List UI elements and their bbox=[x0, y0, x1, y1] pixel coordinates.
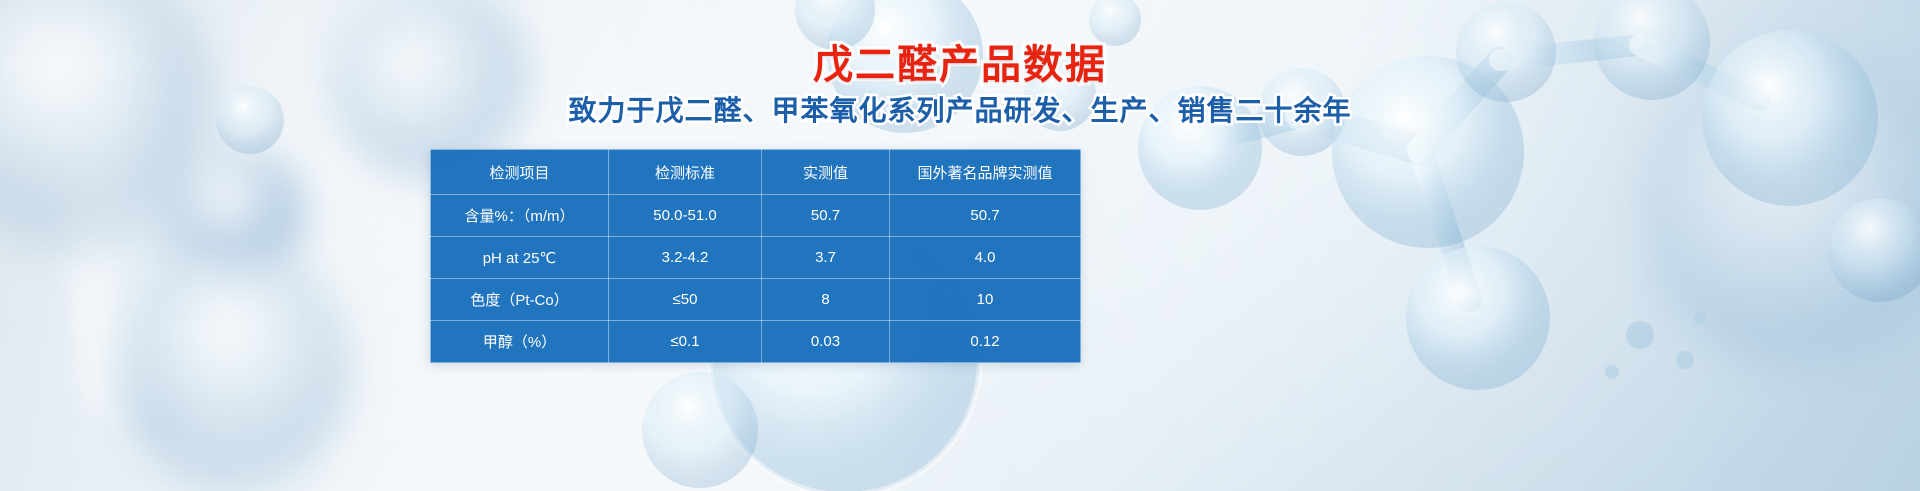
bg-bubble-4 bbox=[175, 150, 305, 280]
column-header-measured-value: 实测值 bbox=[762, 150, 890, 195]
banner-heading-group: 戊二醛产品数据 致力于戊二醛、甲苯氧化系列产品研发、生产、销售二十余年 bbox=[0, 44, 1920, 127]
cell-test-standard: 50.0-51.0 bbox=[609, 195, 762, 237]
column-header-test-item: 检测项目 bbox=[431, 150, 609, 195]
cell-test-item: pH at 25℃ bbox=[431, 237, 609, 279]
cell-test-standard: 3.2-4.2 bbox=[609, 237, 762, 279]
bg-bubble-2 bbox=[120, 240, 350, 491]
column-header-foreign-brand: 国外著名品牌实测值 bbox=[890, 150, 1081, 195]
cell-test-item: 含量%：（m/m） bbox=[431, 195, 609, 237]
page-subtitle: 致力于戊二醛、甲苯氧化系列产品研发、生产、销售二十余年 bbox=[0, 96, 1920, 127]
table-row: 色度（Pt-Co） ≤50 8 10 bbox=[431, 279, 1081, 321]
cell-foreign-brand: 0.12 bbox=[890, 321, 1081, 363]
cell-test-standard: ≤50 bbox=[609, 279, 762, 321]
table-header-row: 检测项目 检测标准 实测值 国外著名品牌实测值 bbox=[431, 150, 1081, 195]
product-spec-table-container: 检测项目 检测标准 实测值 国外著名品牌实测值 含量%：（m/m） 50.0-5… bbox=[430, 149, 1080, 363]
cell-measured-value: 3.7 bbox=[762, 237, 890, 279]
table-row: pH at 25℃ 3.2-4.2 3.7 4.0 bbox=[431, 237, 1081, 279]
page-title: 戊二醛产品数据 bbox=[0, 44, 1920, 86]
column-header-test-standard: 检测标准 bbox=[609, 150, 762, 195]
cell-test-item: 甲醇（%） bbox=[431, 321, 609, 363]
table-row: 含量%：（m/m） 50.0-51.0 50.7 50.7 bbox=[431, 195, 1081, 237]
product-data-banner: 戊二醛产品数据 致力于戊二醛、甲苯氧化系列产品研发、生产、销售二十余年 检测项目… bbox=[0, 0, 1920, 491]
table-header: 检测项目 检测标准 实测值 国外著名品牌实测值 bbox=[431, 150, 1081, 195]
cell-foreign-brand: 4.0 bbox=[890, 237, 1081, 279]
cell-measured-value: 8 bbox=[762, 279, 890, 321]
cell-measured-value: 50.7 bbox=[762, 195, 890, 237]
table-row: 甲醇（%） ≤0.1 0.03 0.12 bbox=[431, 321, 1081, 363]
cell-test-item: 色度（Pt-Co） bbox=[431, 279, 609, 321]
product-spec-table: 检测项目 检测标准 实测值 国外著名品牌实测值 含量%：（m/m） 50.0-5… bbox=[430, 149, 1081, 363]
table-body: 含量%：（m/m） 50.0-51.0 50.7 50.7 pH at 25℃ … bbox=[431, 195, 1081, 363]
cell-foreign-brand: 10 bbox=[890, 279, 1081, 321]
cell-foreign-brand: 50.7 bbox=[890, 195, 1081, 237]
cell-test-standard: ≤0.1 bbox=[609, 321, 762, 363]
cell-measured-value: 0.03 bbox=[762, 321, 890, 363]
bg-bubble-1 bbox=[0, 0, 220, 260]
